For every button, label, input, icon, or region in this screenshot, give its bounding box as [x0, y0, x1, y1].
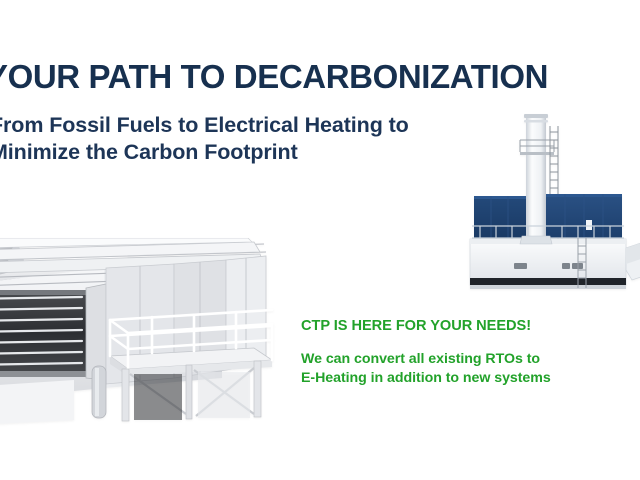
- rto-blue-panels-left: [474, 196, 526, 238]
- stack-base-skirt: [520, 236, 552, 244]
- subtitle-line-1: From Fossil Fuels to Electrical Heating …: [0, 112, 640, 139]
- cta-body: We can convert all existing RTOs to E-He…: [301, 350, 551, 387]
- cta-headline: CTP IS HERE FOR YOUR NEEDS!: [301, 317, 551, 335]
- slide-canvas: YOUR PATH TO DECARBONIZATION From Fossil…: [0, 0, 640, 480]
- cavity-frame-edge: [86, 284, 106, 380]
- subtitle-line-2: Minimize the Carbon Footprint: [0, 139, 640, 166]
- panel-highlight: [586, 220, 592, 230]
- cta-text-block: CTP IS HERE FOR YOUR NEEDS! We can conve…: [301, 317, 551, 387]
- side-pipe: [92, 366, 106, 418]
- electric-heater-module-render: [0, 238, 284, 428]
- page-title: YOUR PATH TO DECARBONIZATION: [0, 58, 640, 96]
- side-duct-housing: [626, 242, 640, 280]
- left-unit-svg: [0, 238, 284, 428]
- cta-body-line-2: E-Heating in addition to new systems: [301, 369, 551, 388]
- cta-body-line-1: We can convert all existing RTOs to: [301, 350, 551, 369]
- base-slab: [0, 380, 74, 426]
- rto-base-body: [470, 239, 626, 289]
- page-subtitle: From Fossil Fuels to Electrical Heating …: [0, 112, 640, 166]
